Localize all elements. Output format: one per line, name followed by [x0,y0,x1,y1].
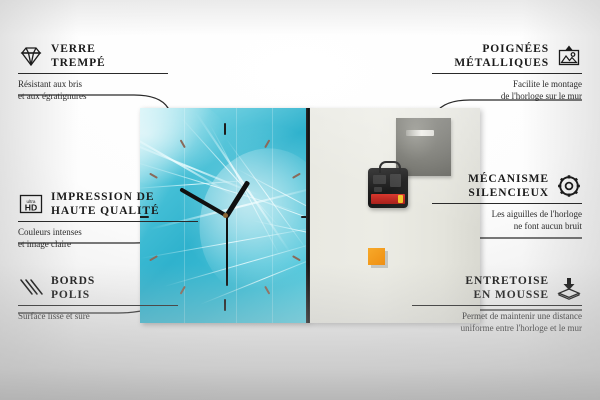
divider [18,305,178,306]
gear-icon [556,174,582,198]
feature-header: POIGNÉES MÉTALLIQUES [432,42,582,70]
feature-header: ultra HD IMPRESSION DE HAUTE QUALITÉ [18,190,198,218]
feature-title-line2: EN MOUSSE [465,288,549,302]
divider [18,73,168,74]
feature-desc-line2: ne font aucun bruit [432,220,582,232]
feature-title-line2: MÉTALLIQUES [454,56,549,70]
foam-spacer [368,248,385,265]
feature-poignees-metalliques: POIGNÉES MÉTALLIQUES Facilite le montage… [432,42,582,102]
diamond-icon [18,44,44,68]
divider [412,305,582,306]
feature-entretoise-mousse: ENTRETOISE EN MOUSSE Permet de maintenir… [412,274,582,334]
feature-impression-hd: ultra HD IMPRESSION DE HAUTE QUALITÉ Cou… [18,190,198,250]
feature-desc-line1: Facilite le montage [432,78,582,90]
picture-hanger-icon [556,44,582,68]
feature-title-line1: POIGNÉES [454,42,549,56]
feature-title-line2: TREMPÉ [51,56,106,70]
feature-desc-line1: Permet de maintenir une distance [412,310,582,322]
feature-desc-line1: Les aiguilles de l'horloge [432,208,582,220]
feature-desc-line2: de l'horloge sur le mur [432,90,582,102]
feature-desc-line1: Couleurs intenses [18,226,198,238]
feature-title-line1: BORDS [51,274,95,288]
infographic-canvas: VERRE TREMPÉ Résistant aux bris et aux é… [0,0,600,400]
feature-header: VERRE TREMPÉ [18,42,168,70]
feature-title-line1: ENTRETOISE [465,274,549,288]
foam-spacer-icon [556,276,582,300]
hanging-loop [379,161,401,173]
ultra-hd-icon: ultra HD [18,192,44,216]
feature-title-line1: VERRE [51,42,106,56]
feature-title-line2: HAUTE QUALITÉ [51,204,160,218]
feature-verre-trempe: VERRE TREMPÉ Résistant aux bris et aux é… [18,42,168,102]
feature-desc-line2: uniforme entre l'horloge et le mur [412,322,582,334]
battery [371,194,405,204]
feature-title-line1: MÉCANISME [468,172,549,186]
hd-label: HD [25,202,37,212]
metal-hanger-plate [396,118,451,176]
clock-second-hand [226,214,228,286]
feature-header: ENTRETOISE EN MOUSSE [412,274,582,302]
feature-title-line2: SILENCIEUX [468,186,549,200]
feature-desc-line2: et aux égratignures [18,90,168,102]
feature-mecanisme-silencieux: MÉCANISME SILENCIEUX [432,172,582,232]
divider [432,73,582,74]
feature-bords-polis: BORDS POLIS Surface lisse et sûre [18,274,178,322]
feature-desc-line1: Surface lisse et sûre [18,310,178,322]
hanger-slot [406,130,434,136]
divider [432,203,582,204]
silent-clock-mechanism [368,168,408,208]
feature-title-line2: POLIS [51,288,95,302]
feature-desc-line1: Résistant aux bris [18,78,168,90]
feature-title-line1: IMPRESSION DE [51,190,160,204]
clock-hands-hub [223,213,228,218]
feature-header: MÉCANISME SILENCIEUX [432,172,582,200]
feature-header: BORDS POLIS [18,274,178,302]
feature-desc-line2: et image claire [18,238,198,250]
divider [18,221,198,222]
polished-edges-icon [18,276,44,300]
clock-hour-hand [224,180,250,218]
